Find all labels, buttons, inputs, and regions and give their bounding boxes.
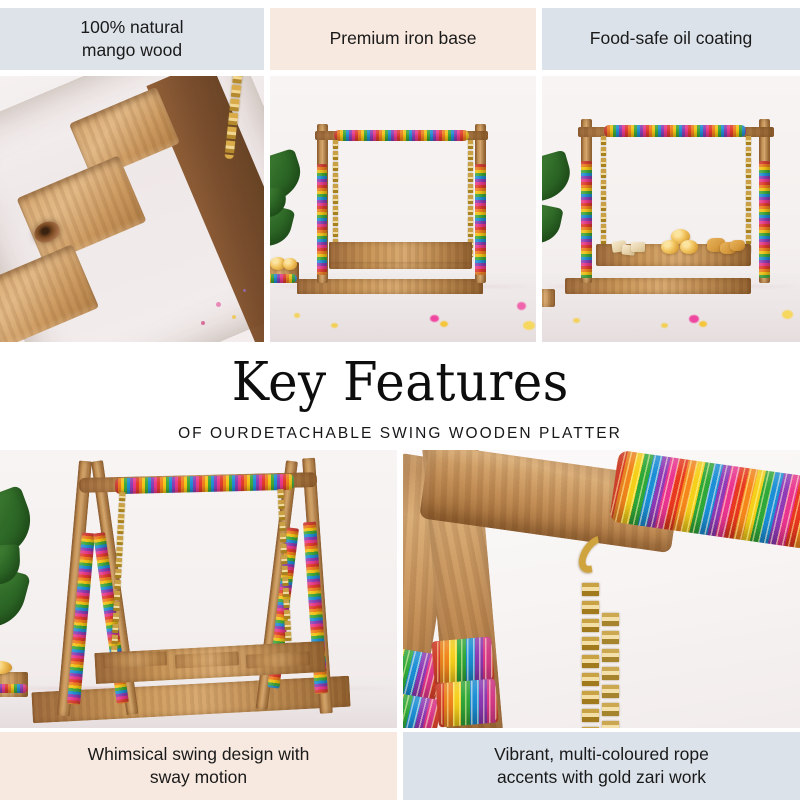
photo-rope-zari-chain-macro [403,450,800,728]
caption-vibrant-rope-accents: Vibrant, multi-coloured rope accents wit… [403,732,800,800]
photo-swing-platter-empty [270,76,536,342]
caption-2-line2: accents with gold zari work [494,766,709,789]
page-subtitle: OF OURDETACHABLE SWING WOODEN PLATTER [178,425,622,443]
top-image-row [0,76,800,342]
caption-1-line1: Whimsical swing design with [88,743,310,766]
header-card-1-line2: mango wood [80,39,183,62]
page-title: Key Features [232,355,569,411]
photo-swing-angled-view [0,450,397,728]
header-card-1-line1: 100% natural [80,16,183,39]
caption-whimsical-swing-design: Whimsical swing design with sway motion [0,732,397,800]
header-card-food-safe-oil-coating: Food-safe oil coating [542,8,800,70]
header-card-2-line1: Premium iron base [330,27,477,50]
caption-2-line1: Vibrant, multi-coloured rope [494,743,709,766]
bottom-caption-row: Whimsical swing design with sway motion … [0,732,800,800]
bottom-image-row [0,450,800,728]
header-card-natural-mango-wood: 100% natural mango wood [0,8,264,70]
title-block: Key Features OF OURDETACHABLE SWING WOOD… [0,346,800,448]
header-card-premium-iron-base: Premium iron base [270,8,536,70]
caption-1-line2: sway motion [88,766,310,789]
photo-mango-wood-platter-closeup [0,76,264,342]
header-card-3-line1: Food-safe oil coating [590,27,752,50]
key-features-infographic: 100% natural mango wood Premium iron bas… [0,0,800,800]
photo-swing-platter-with-sweets [542,76,800,342]
top-header-row: 100% natural mango wood Premium iron bas… [0,8,800,70]
